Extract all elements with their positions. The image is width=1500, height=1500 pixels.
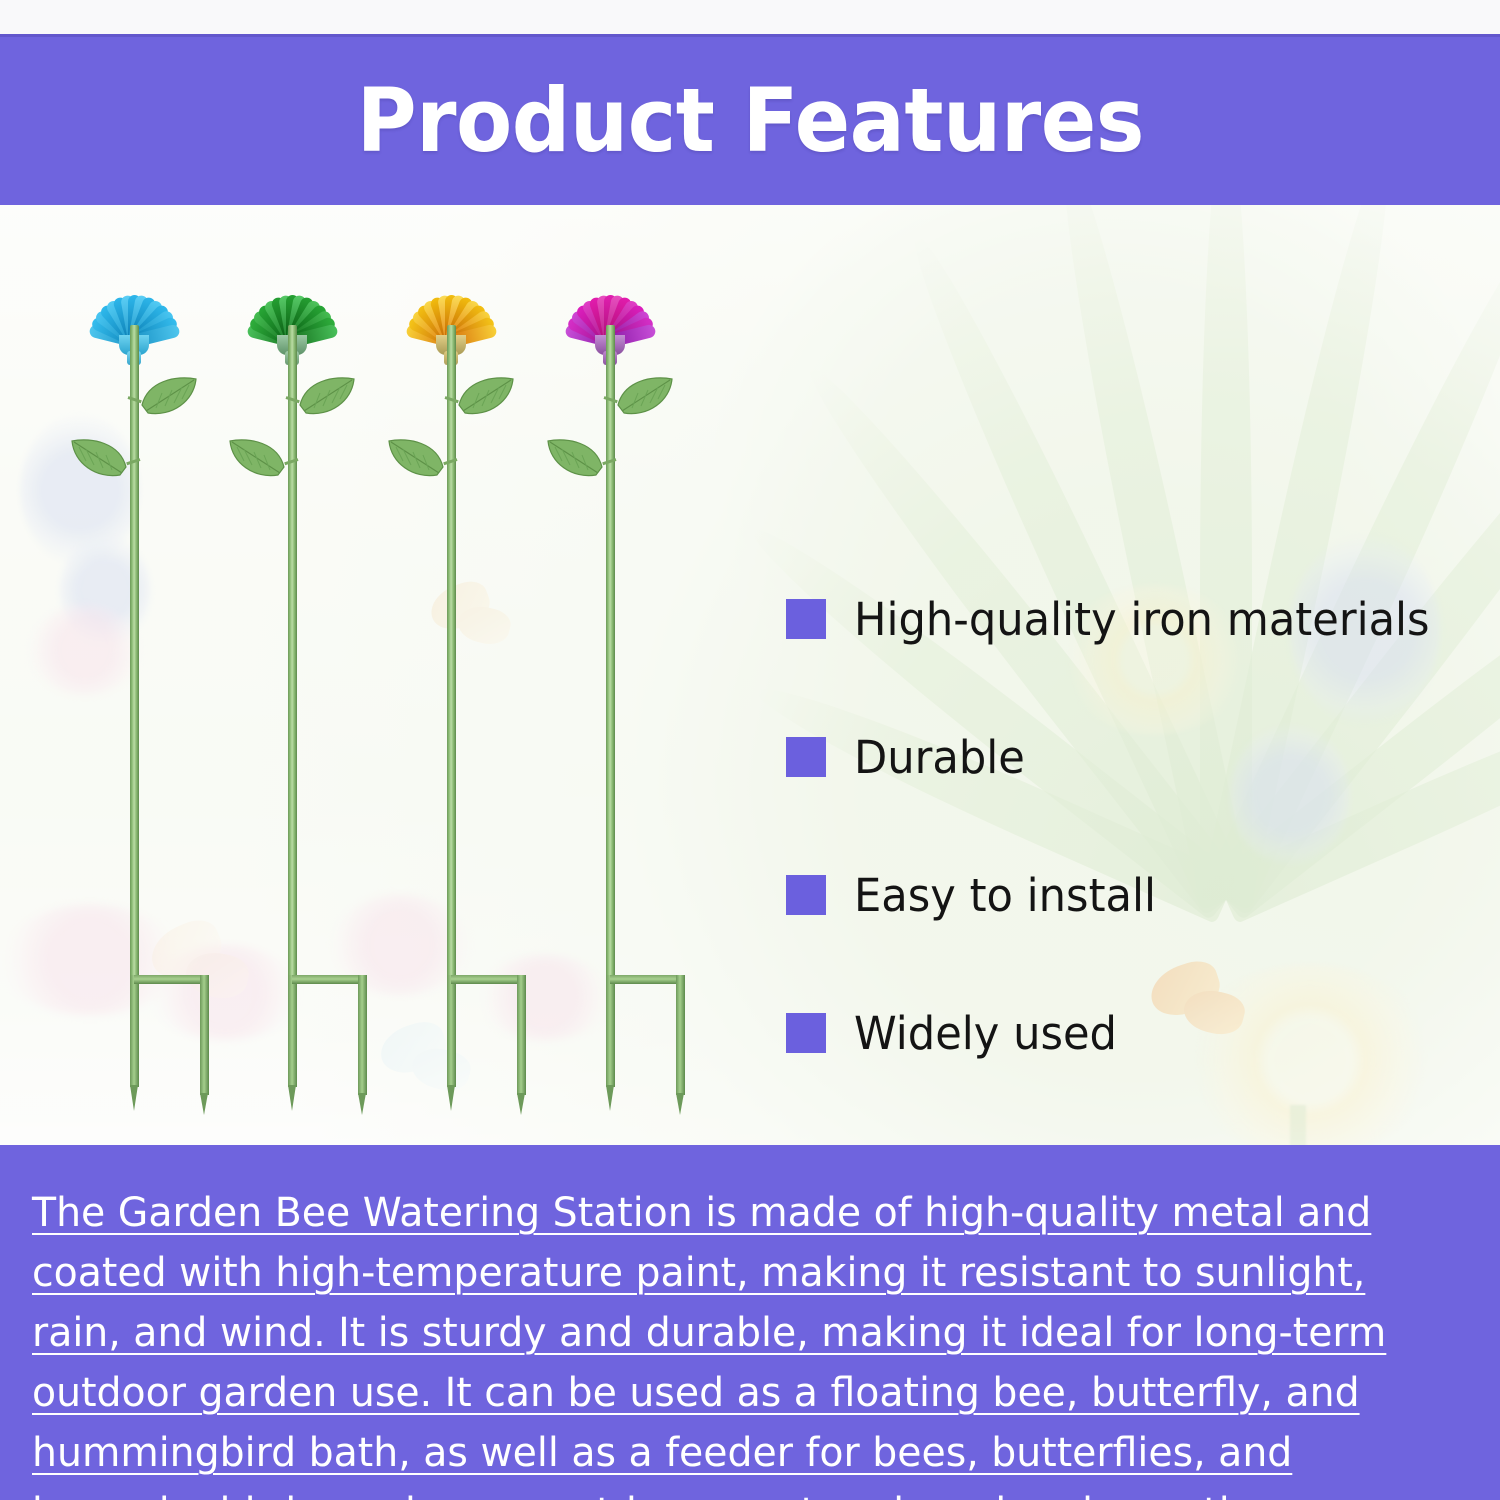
stake-prong-tip — [130, 1085, 138, 1111]
stake-leaf — [385, 437, 447, 479]
header-banner: Product Features — [0, 34, 1500, 205]
stake-prong-bar — [610, 975, 684, 984]
leaf-icon — [614, 375, 676, 417]
leaf-icon — [68, 437, 130, 479]
feature-item-high-quality-iron-materials: High-quality iron materials — [786, 593, 1466, 645]
stake-stem — [606, 325, 615, 1025]
stake-stem — [288, 325, 297, 1025]
page-title: Product Features — [356, 77, 1143, 165]
stake-prong-main — [447, 975, 456, 1087]
stake-prong-bar — [292, 975, 366, 984]
leaf-icon — [138, 375, 200, 417]
stake-prong-main — [288, 975, 297, 1087]
leaf-icon — [385, 437, 447, 479]
leaf-icon — [296, 375, 358, 417]
stake-prong-main — [130, 975, 139, 1087]
stake-prong-main — [606, 975, 615, 1087]
stake-prong-tip — [288, 1085, 296, 1111]
feature-label: Widely used — [854, 1011, 1117, 1056]
flower-stake-magenta — [515, 205, 705, 1145]
feature-item-durable: Durable — [786, 731, 1466, 783]
stake-stem — [130, 325, 139, 1025]
leaf-icon — [544, 437, 606, 479]
description-text: The Garden Bee Watering Station is made … — [32, 1183, 1450, 1500]
stake-prong-tip — [447, 1085, 455, 1111]
feature-item-easy-to-install: Easy to install — [786, 869, 1466, 921]
square-bullet-icon — [786, 875, 826, 915]
stake-leaf — [68, 437, 130, 479]
stake-leaf — [138, 375, 200, 417]
stake-leaf — [614, 375, 676, 417]
feature-label: High-quality iron materials — [854, 597, 1430, 642]
stake-leaf — [455, 375, 517, 417]
stake-prong-second-tip — [676, 1093, 684, 1115]
stake-leaf — [544, 437, 606, 479]
product-photo-area: High-quality iron materials Durable Easy… — [0, 205, 1500, 1145]
feature-list: High-quality iron materials Durable Easy… — [786, 593, 1466, 1059]
stake-prong-second — [676, 975, 685, 1095]
stake-prong-bar — [451, 975, 525, 984]
feature-item-widely-used: Widely used — [786, 1007, 1466, 1059]
stake-leaf — [226, 437, 288, 479]
leaf-icon — [226, 437, 288, 479]
square-bullet-icon — [786, 1013, 826, 1053]
leaf-icon — [455, 375, 517, 417]
feature-label: Durable — [854, 735, 1025, 780]
top-white-margin — [0, 0, 1500, 34]
stake-leaf — [296, 375, 358, 417]
square-bullet-icon — [786, 737, 826, 777]
stake-prong-tip — [606, 1085, 614, 1111]
feature-label: Easy to install — [854, 873, 1156, 918]
square-bullet-icon — [786, 599, 826, 639]
description-block: The Garden Bee Watering Station is made … — [0, 1145, 1500, 1500]
product-feature-page: Product Features — [0, 0, 1500, 1500]
stake-stem — [447, 325, 456, 1025]
